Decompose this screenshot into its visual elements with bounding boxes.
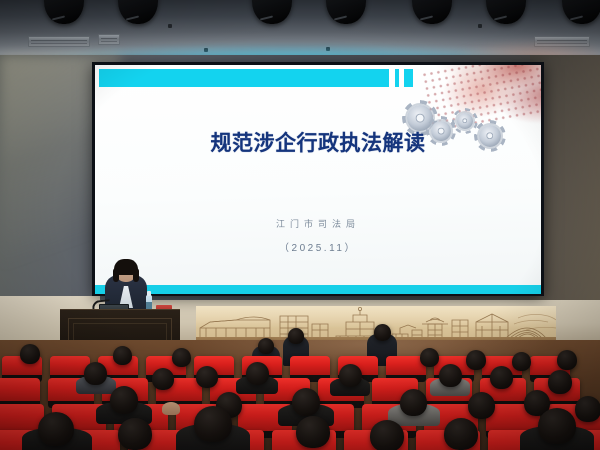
attendee-head: [466, 350, 486, 370]
seat[interactable]: [290, 356, 330, 376]
slide-date: （2025.11）: [95, 239, 541, 254]
attendee-head: [288, 328, 304, 344]
attendee-head: [292, 388, 320, 416]
attendee-head: [339, 364, 362, 387]
ceiling-spotlight-icon: [326, 0, 366, 24]
attendee-head: [439, 364, 462, 387]
attendee-head: [512, 352, 531, 371]
slide-title: 规范涉企行政执法解读: [95, 127, 541, 157]
ceiling: [0, 0, 600, 58]
projected-slide: 规范涉企行政执法解读 江门市司法局 （2025.11）: [95, 65, 541, 294]
attendee-head: [374, 324, 391, 341]
ceiling-spotlight-icon: [562, 0, 600, 24]
ceiling-spotlight-icon: [412, 0, 452, 24]
ceiling-spotlight-icon: [486, 0, 526, 24]
attendee-head: [196, 366, 218, 388]
attendee-head: [420, 348, 439, 367]
auditorium-scene: 规范涉企行政执法解读 江门市司法局 （2025.11）: [0, 0, 600, 450]
attendee-head: [20, 344, 40, 364]
attendee-head: [118, 418, 152, 450]
attendee-head: [84, 362, 107, 385]
attendee-head: [538, 408, 576, 444]
attendee-head: [113, 346, 132, 365]
ceiling-spotlight-icon: [118, 0, 158, 24]
slide-accent-tick-1: [395, 69, 399, 87]
attendee-head: [172, 348, 191, 367]
seat[interactable]: [0, 378, 40, 402]
slide-accent-bar: [99, 69, 389, 87]
attendee-head: [575, 396, 600, 422]
ceiling-spotlight-icon: [252, 0, 292, 24]
attendee-head: [468, 392, 495, 419]
speaker-hair-right: [133, 268, 139, 282]
attendee-hand: [162, 402, 180, 415]
attendee-head: [296, 416, 330, 448]
attendee-head: [400, 389, 427, 416]
speaker-hair-left: [113, 268, 119, 282]
ceiling-fixture-dot: [168, 24, 172, 28]
attendee-head: [258, 338, 274, 354]
attendee-head: [38, 412, 74, 446]
attendee-head: [444, 418, 478, 450]
attendee-head: [548, 370, 572, 394]
ceiling-fixture-dot: [478, 24, 482, 28]
slide-organization: 江门市司法局: [95, 217, 541, 230]
projection-screen-frame: 规范涉企行政执法解读 江门市司法局 （2025.11）: [92, 62, 544, 296]
slide-bottom-accent-bar: [95, 285, 541, 294]
attendee-head: [152, 368, 174, 390]
attendee-head: [110, 386, 138, 414]
attendee-head: [194, 406, 232, 442]
attendee-head: [246, 362, 269, 385]
attendee-head: [557, 350, 577, 370]
ceiling-spotlight-icon: [44, 0, 84, 24]
attendee-head: [490, 366, 513, 389]
attendee-head: [370, 420, 404, 450]
